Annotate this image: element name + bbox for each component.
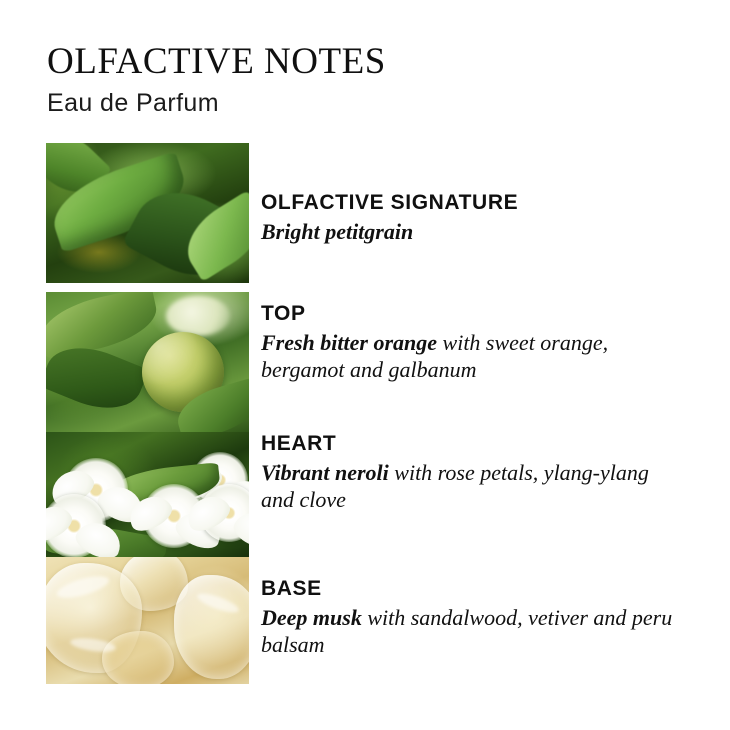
green-bitter-orange-fruit-photo: [46, 292, 249, 432]
note-block-base: BASE Deep musk with sandalwood, vetiver …: [261, 576, 681, 658]
photo-divider: [46, 283, 249, 292]
resin-crystal-shape: [102, 631, 174, 684]
blossom-blur: [166, 296, 230, 336]
orange-blossom-neroli-flowers-photo: [46, 432, 249, 557]
note-body-top: Fresh bitter orange with sweet orange, b…: [261, 329, 681, 383]
note-block-heart: HEART Vibrant neroli with rose petals, y…: [261, 431, 681, 513]
note-heading-heart: HEART: [261, 431, 681, 456]
note-heading-top: TOP: [261, 301, 681, 326]
page-title: OLFACTIVE NOTES: [47, 42, 687, 82]
resin-crystal-shape: [174, 575, 249, 679]
note-body-heart: Vibrant neroli with rose petals, ylang-y…: [261, 459, 681, 513]
blossom-shape: [200, 484, 249, 542]
olfactive-notes-page: OLFACTIVE NOTES Eau de Parfum: [0, 0, 730, 730]
note-accent-base: Deep musk: [261, 605, 362, 630]
note-block-top: TOP Fresh bitter orange with sweet orang…: [261, 301, 681, 383]
note-block-signature: OLFACTIVE SIGNATURE Bright petitgrain: [261, 190, 681, 245]
blossom-shape: [46, 494, 106, 557]
page-header: OLFACTIVE NOTES Eau de Parfum: [47, 42, 687, 117]
note-accent-heart: Vibrant neroli: [261, 460, 389, 485]
note-body-base: Deep musk with sandalwood, vetiver and p…: [261, 604, 681, 658]
citrus-leaves-photo: [46, 143, 249, 283]
note-accent-top: Fresh bitter orange: [261, 330, 437, 355]
note-heading-signature: OLFACTIVE SIGNATURE: [261, 190, 681, 215]
note-body-signature: Bright petitgrain: [261, 218, 681, 245]
amber-resin-crystals-photo: [46, 557, 249, 684]
note-heading-base: BASE: [261, 576, 681, 601]
ingredient-photo-column: [46, 143, 249, 684]
page-subtitle: Eau de Parfum: [47, 89, 687, 117]
note-accent-signature: Bright petitgrain: [261, 219, 413, 244]
